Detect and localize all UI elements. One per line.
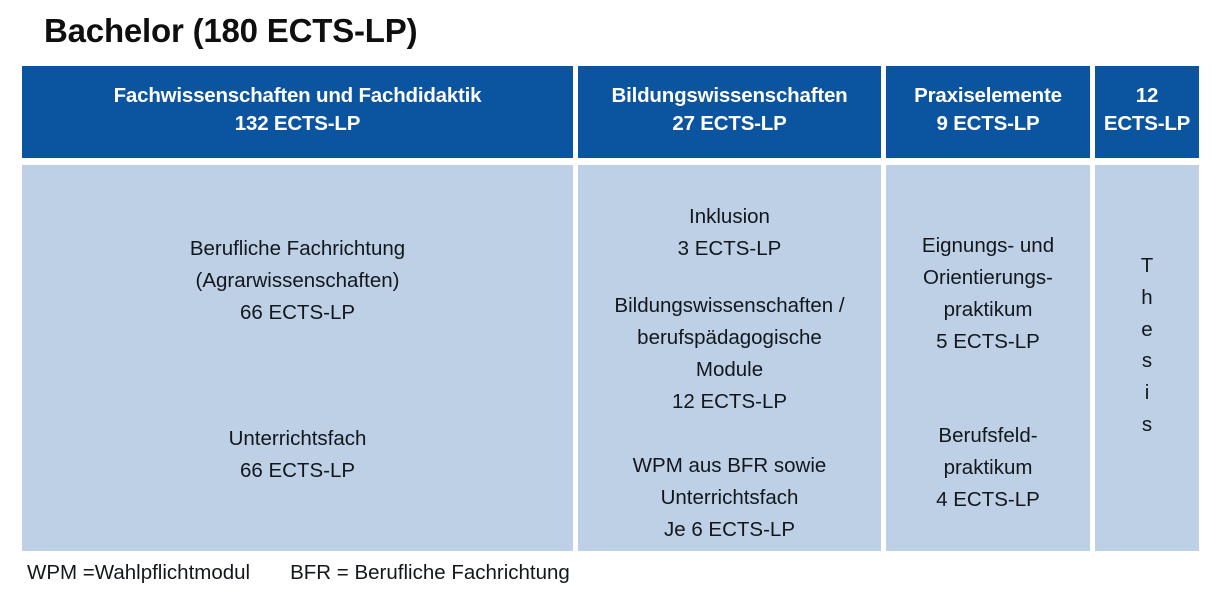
thesis-vertical-label: T h e s i s [1095, 250, 1199, 441]
body-cell-fachwissenschaften: Berufliche Fachrichtung (Agrarwissenscha… [22, 165, 573, 551]
module-credits: 3 ECTS-LP [578, 233, 881, 265]
header-cell-fachwissenschaften: Fachwissenschaften und Fachdidaktik 132 … [22, 66, 573, 158]
legend-wpm: WPM =Wahlpflichtmodul [27, 561, 250, 586]
thesis-char: s [1095, 345, 1199, 377]
module-credits: 4 ECTS-LP [886, 484, 1090, 516]
module-credits: 66 ECTS-LP [22, 455, 573, 487]
header-cell-bildungswissenschaften: Bildungswissenschaften 27 ECTS-LP [578, 66, 881, 158]
module-block-berufliche-fachrichtung: Berufliche Fachrichtung (Agrarwissenscha… [22, 233, 573, 329]
module-block-berufspaedagogische-module: Bildungswissenschaften / berufspädagogis… [578, 290, 881, 418]
thesis-char: i [1095, 377, 1199, 409]
body-cell-thesis: T h e s i s [1095, 165, 1199, 551]
module-line: Inklusion [578, 201, 881, 233]
module-block-berufsfeldpraktikum: Berufsfeld- praktikum 4 ECTS-LP [886, 420, 1090, 516]
table-header-row: Fachwissenschaften und Fachdidaktik 132 … [22, 66, 1199, 158]
body-cell-praxiselemente: Eignungs- und Orientierungs- praktikum 5… [886, 165, 1090, 551]
module-block-unterrichtsfach: Unterrichtsfach 66 ECTS-LP [22, 423, 573, 487]
header-credits-praxiselemente: 9 ECTS-LP [937, 110, 1040, 138]
body-cell-bildungswissenschaften: Inklusion 3 ECTS-LP Bildungswissenschaft… [578, 165, 881, 551]
header-credits-bildungswissenschaften: 27 ECTS-LP [672, 110, 786, 138]
module-credits: Je 6 ECTS-LP [578, 514, 881, 546]
table-body-row: Berufliche Fachrichtung (Agrarwissenscha… [22, 165, 1199, 551]
legend-spacer [250, 561, 290, 586]
module-line: WPM aus BFR sowie [578, 450, 881, 482]
module-credits: 66 ECTS-LP [22, 297, 573, 329]
slide-canvas: Bachelor (180 ECTS-LP) Fachwissenschafte… [0, 0, 1222, 602]
curriculum-table: Fachwissenschaften und Fachdidaktik 132 … [22, 66, 1199, 551]
module-line: Unterrichtsfach [22, 423, 573, 455]
thesis-char: s [1095, 409, 1199, 441]
header-title-thesis: 12 [1136, 82, 1158, 110]
header-cell-thesis: 12 ECTS-LP [1095, 66, 1199, 158]
module-line: Berufsfeld- [886, 420, 1090, 452]
module-line: praktikum [886, 452, 1090, 484]
module-line: Bildungswissenschaften / [578, 290, 881, 322]
module-line: (Agrarwissenschaften) [22, 265, 573, 297]
thesis-char: T [1095, 250, 1199, 282]
module-line: Module [578, 354, 881, 386]
module-line: Berufliche Fachrichtung [22, 233, 573, 265]
legend: WPM =Wahlpflichtmodul BFR = Berufliche F… [27, 561, 570, 586]
module-block-eignungspraktikum: Eignungs- und Orientierungs- praktikum 5… [886, 230, 1090, 358]
module-line: berufspädagogische [578, 322, 881, 354]
thesis-char: e [1095, 314, 1199, 346]
header-title-bildungswissenschaften: Bildungswissenschaften [612, 82, 848, 110]
module-line: Orientierungs- [886, 262, 1090, 294]
header-credits-fachwissenschaften: 132 ECTS-LP [235, 110, 360, 138]
header-credits-thesis: ECTS-LP [1104, 110, 1190, 138]
legend-bfr: BFR = Berufliche Fachrichtung [290, 561, 570, 586]
header-title-praxiselemente: Praxiselemente [914, 82, 1062, 110]
module-credits: 12 ECTS-LP [578, 386, 881, 418]
module-block-inklusion: Inklusion 3 ECTS-LP [578, 201, 881, 265]
header-cell-praxiselemente: Praxiselemente 9 ECTS-LP [886, 66, 1090, 158]
module-block-wpm: WPM aus BFR sowie Unterrichtsfach Je 6 E… [578, 450, 881, 546]
module-line: Eignungs- und [886, 230, 1090, 262]
thesis-char: h [1095, 282, 1199, 314]
module-line: praktikum [886, 294, 1090, 326]
header-title-fachwissenschaften: Fachwissenschaften und Fachdidaktik [114, 82, 482, 110]
page-title: Bachelor (180 ECTS-LP) [44, 10, 417, 51]
module-credits: 5 ECTS-LP [886, 326, 1090, 358]
module-line: Unterrichtsfach [578, 482, 881, 514]
